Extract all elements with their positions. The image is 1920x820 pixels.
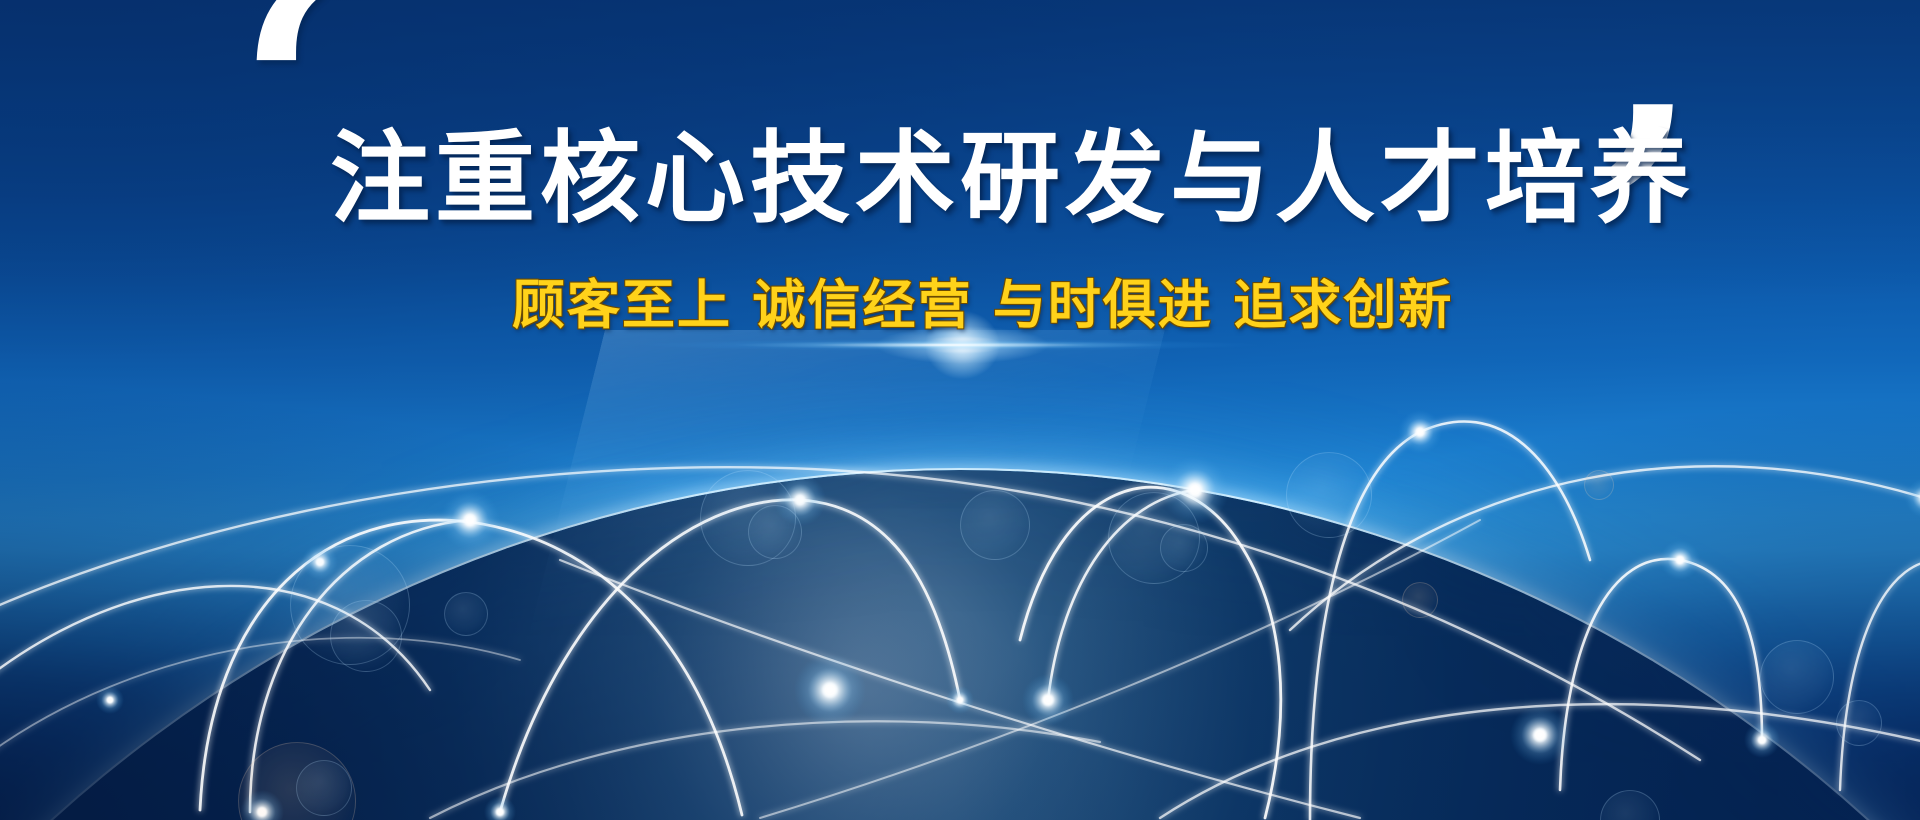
promotional-banner: ‘ ’ 注重核心技术研发与人才培养 顾客至上 诚信经营 与时俱进 追求创新 bbox=[0, 0, 1920, 820]
opening-quote-mark: ‘ bbox=[236, 0, 340, 242]
banner-headline: 注重核心技术研发与人才培养 bbox=[330, 122, 1620, 236]
network-nodes bbox=[96, 410, 1920, 820]
banner-subtitle: 顾客至上 诚信经营 与时俱进 追求创新 bbox=[512, 276, 1462, 335]
arc-lines bbox=[0, 421, 1920, 820]
